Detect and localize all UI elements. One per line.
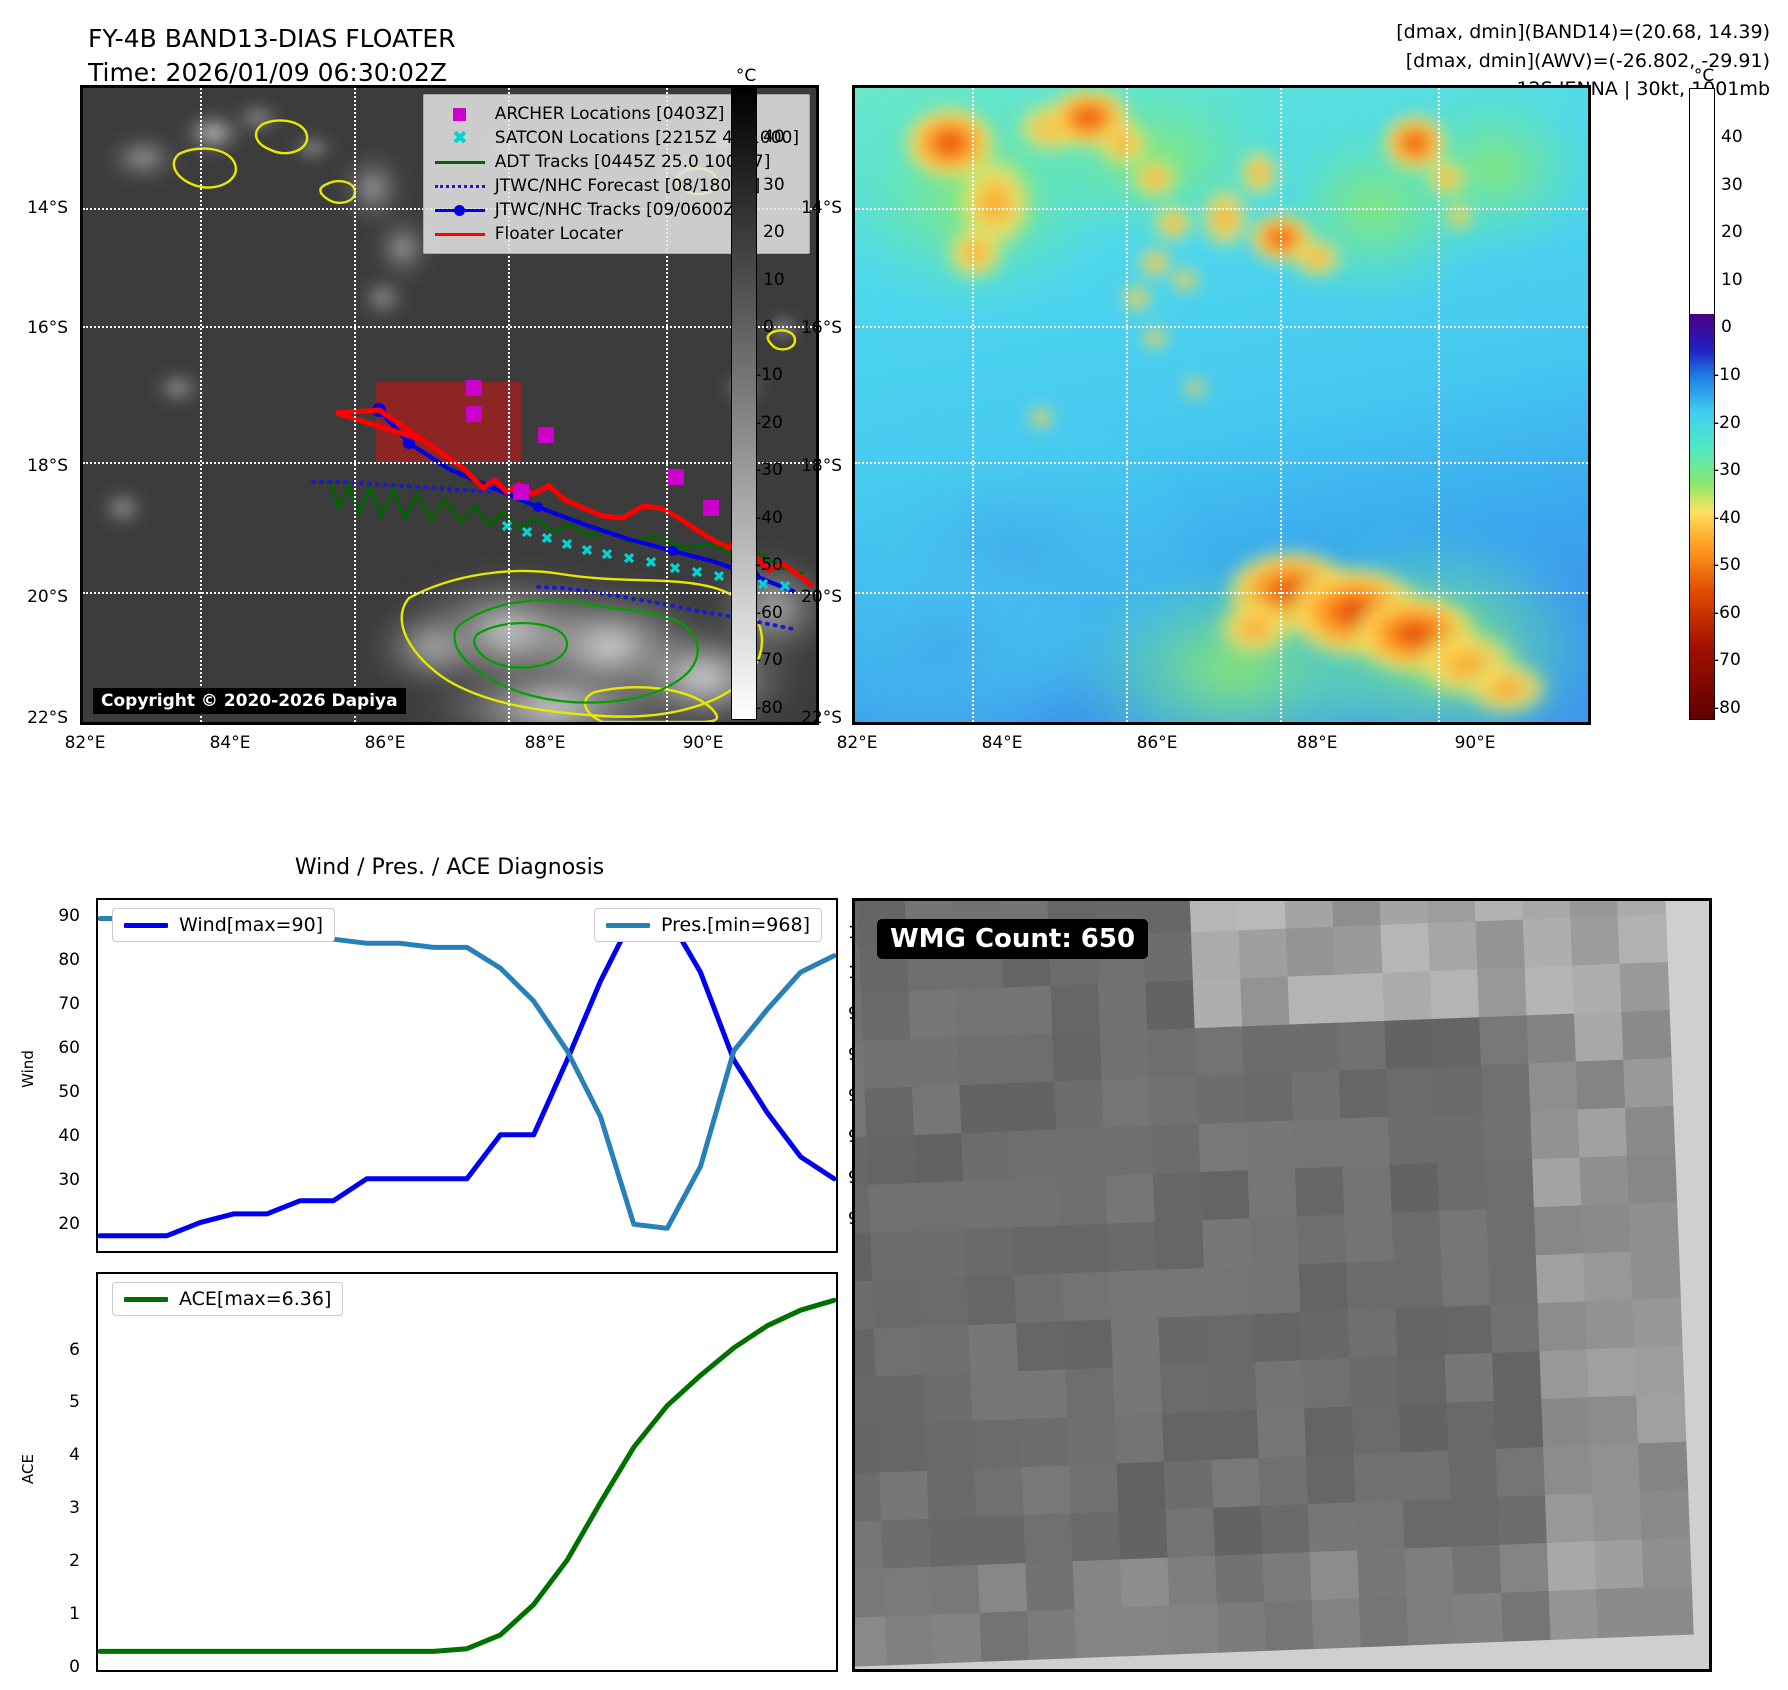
wv-imagery [855, 88, 1588, 722]
wv-lon-tick-90e: 90°E [1435, 733, 1515, 753]
ir-lat-tick-20s: 20°S [8, 587, 68, 607]
wv-lat-tick-20s: 20°S [782, 587, 842, 607]
wind-tick-60: 60 [24, 1038, 80, 1058]
ir-lon-tick-82e: 82°E [45, 733, 125, 753]
ir-cbar-tick--30: -30 [755, 460, 783, 480]
copyright-notice: Copyright © 2020-2026 Dapiya [93, 688, 406, 714]
wind-tick-50: 50 [24, 1082, 80, 1102]
wv-lon-tick-88e: 88°E [1277, 733, 1357, 753]
diagnosis-chart-title: Wind / Pres. / ACE Diagnosis [80, 855, 819, 880]
wind-pressure-plot [98, 900, 836, 1251]
cyan-x-marker-icon: ✖ [432, 129, 488, 148]
ace-tick-6: 6 [24, 1340, 80, 1360]
wind-pressure-chart[interactable]: Wind[max=90] Pres.[min=968] [96, 898, 838, 1253]
ir-lon-tick-86e: 86°E [345, 733, 425, 753]
wmg-count-badge: WMG Count: 650 [877, 919, 1148, 959]
wv-cbar-tick--70: -70 [1713, 650, 1741, 670]
ir-cbar-tick--10: -10 [755, 365, 783, 385]
ir-cbar-tick-0: 0 [763, 317, 774, 337]
wv-cbar-tick-20: 20 [1721, 222, 1743, 242]
wind-tick-40: 40 [24, 1126, 80, 1146]
blue-line-with-dots-icon [432, 209, 488, 212]
wind-tick-30: 30 [24, 1170, 80, 1190]
wv-cbar-tick--60: -60 [1713, 603, 1741, 623]
pressure-legend: Pres.[min=968] [594, 908, 822, 942]
wind-tick-80: 80 [24, 950, 80, 970]
ir-lat-tick-18s: 18°S [8, 456, 68, 476]
wv-lat-tick-16s: 16°S [782, 318, 842, 338]
wv-cbar-tick-40: 40 [1721, 127, 1743, 147]
wmg-pixel-grid [855, 901, 1709, 1669]
ace-tick-3: 3 [24, 1498, 80, 1518]
ace-tick-5: 5 [24, 1392, 80, 1412]
ace-plot [98, 1274, 836, 1670]
water-vapor-map[interactable] [852, 85, 1591, 725]
wind-tick-20: 20 [24, 1214, 80, 1234]
ace-legend: ACE[max=6.36] [112, 1282, 343, 1316]
ace-tick-1: 1 [24, 1604, 80, 1624]
magenta-square-marker-icon [432, 108, 488, 121]
wmg-grid-panel[interactable]: WMG Count: 650 [852, 898, 1712, 1672]
ir-lat-tick-14s: 14°S [8, 198, 68, 218]
ir-satellite-map[interactable]: ARCHER Locations [0403Z] ✖ SATCON Locati… [80, 85, 819, 725]
ir-cbar-tick-20: 20 [763, 222, 785, 242]
wv-cbar-tick--50: -50 [1713, 555, 1741, 575]
ir-lat-tick-16s: 16°S [8, 318, 68, 338]
wv-cbar-tick-10: 10 [1721, 270, 1743, 290]
header-title-block: FY-4B BAND13-DIAS FLOATER Time: 2026/01/… [88, 22, 456, 90]
ace-chart[interactable]: ACE[max=6.36] [96, 1272, 838, 1672]
wv-lat-tick-14s: 14°S [782, 198, 842, 218]
ir-cbar-tick--80: -80 [755, 698, 783, 718]
wind-tick-70: 70 [24, 994, 80, 1014]
pressure-line-swatch [606, 923, 650, 928]
ir-lat-tick-22s: 22°S [8, 708, 68, 728]
ir-cbar-tick-40: 40 [763, 127, 785, 147]
ir-cbar-tick-30: 30 [763, 175, 785, 195]
ir-lon-tick-88e: 88°E [505, 733, 585, 753]
blue-dotted-line-icon [432, 185, 488, 188]
wind-line-swatch [124, 923, 168, 928]
wv-cbar-tick-30: 30 [1721, 175, 1743, 195]
ace-tick-4: 4 [24, 1445, 80, 1465]
wv-colorbar [1689, 88, 1715, 720]
product-title: FY-4B BAND13-DIAS FLOATER [88, 22, 456, 56]
ir-colorbar [731, 88, 757, 720]
wv-cbar-tick-0: 0 [1721, 317, 1732, 337]
wv-lon-tick-86e: 86°E [1117, 733, 1197, 753]
ace-line-swatch [124, 1297, 168, 1302]
ace-tick-0: 0 [24, 1657, 80, 1677]
ir-cbar-tick--60: -60 [755, 603, 783, 623]
wv-cbar-tick--40: -40 [1713, 508, 1741, 528]
ir-cbar-tick--20: -20 [755, 413, 783, 433]
wv-cbar-tick--30: -30 [1713, 460, 1741, 480]
wv-lat-tick-18s: 18°S [782, 456, 842, 476]
wv-lon-tick-82e: 82°E [817, 733, 897, 753]
ir-lon-tick-84e: 84°E [190, 733, 270, 753]
ir-lon-tick-90e: 90°E [663, 733, 743, 753]
ir-colorbar-unit: °C [726, 66, 766, 86]
ir-cbar-tick--50: -50 [755, 555, 783, 575]
wv-colorbar-unit: °C [1684, 66, 1724, 86]
wv-lon-tick-84e: 84°E [962, 733, 1042, 753]
wind-tick-90: 90 [24, 906, 80, 926]
band14-stats: [dmax, dmin](BAND14)=(20.68, 14.39) [1396, 18, 1770, 47]
wind-legend: Wind[max=90] [112, 908, 335, 942]
ir-cbar-tick-10: 10 [763, 270, 785, 290]
wv-cbar-tick--20: -20 [1713, 413, 1741, 433]
ace-tick-2: 2 [24, 1551, 80, 1571]
green-line-icon [432, 161, 488, 164]
ir-cbar-tick--40: -40 [755, 508, 783, 528]
wv-cbar-tick--10: -10 [1713, 365, 1741, 385]
red-line-icon [432, 233, 488, 236]
ir-cbar-tick--70: -70 [755, 650, 783, 670]
wv-cbar-tick--80: -80 [1713, 698, 1741, 718]
wv-lat-tick-22s: 22°S [782, 708, 842, 728]
